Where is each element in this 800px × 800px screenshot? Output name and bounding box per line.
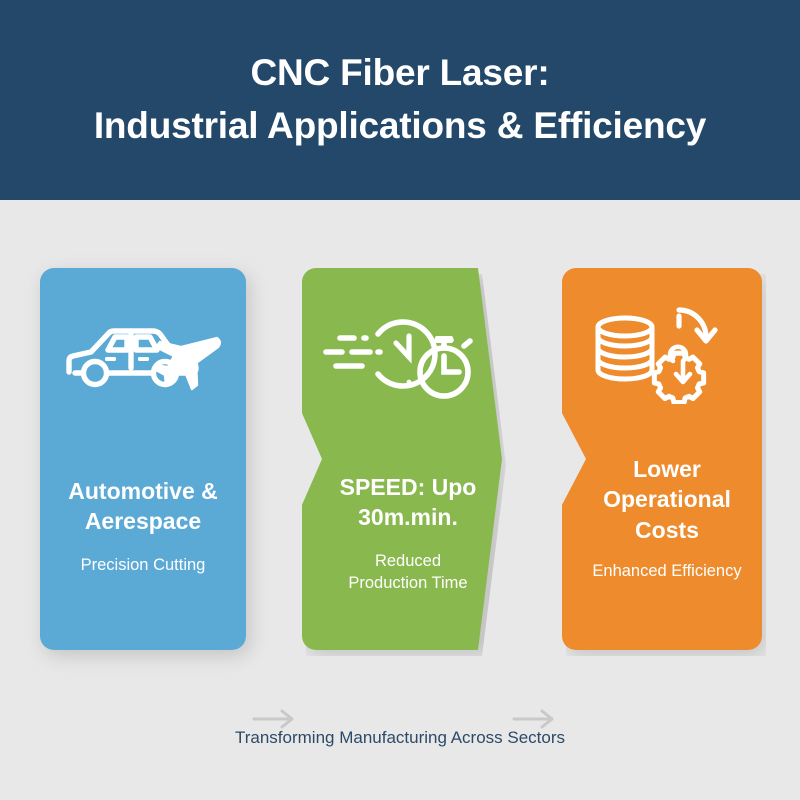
arrow-right-icon xyxy=(252,708,300,730)
flow-card-subtitle: Precision Cutting xyxy=(67,554,220,576)
flow-connector-2 xyxy=(512,708,560,730)
coins-gear-down-arrow-icon xyxy=(587,304,737,404)
car-airplane-icon xyxy=(61,316,226,404)
car-airplane-icon-wrap xyxy=(40,314,246,406)
flow-card-title: SPEED: Upo 30m.min. xyxy=(314,472,491,533)
flow-connector-1 xyxy=(252,708,300,730)
flow-card-title: Lower Operational Costs xyxy=(579,454,745,545)
page-title: CNC Fiber Laser: Industrial Applications… xyxy=(64,47,736,152)
clock-stopwatch-speed-icon xyxy=(318,308,486,404)
flow-card-speed[interactable]: SPEED: Upo 30m.min. Reduced Production T… xyxy=(302,268,502,650)
arrow-right-icon xyxy=(512,708,560,730)
header-banner: CNC Fiber Laser: Industrial Applications… xyxy=(0,0,800,200)
footer-caption: Transforming Manufacturing Across Sector… xyxy=(0,728,800,748)
flow-card-lower-operational-costs[interactable]: Lower Operational Costs Enhanced Efficie… xyxy=(562,268,762,650)
infographic-canvas: CNC Fiber Laser: Industrial Applications… xyxy=(0,0,800,800)
flow-card-subtitle: Enhanced Efficiency xyxy=(568,560,755,582)
flow-card-title: Automotive & Aerespace xyxy=(54,476,232,537)
process-flow: Automotive & Aerespace Precision Cutting xyxy=(0,268,800,650)
flow-card-automotive-aerospace[interactable]: Automotive & Aerespace Precision Cutting xyxy=(40,268,246,650)
coins-gear-down-arrow-icon-wrap xyxy=(562,308,762,400)
clock-stopwatch-speed-icon-wrap xyxy=(302,310,502,402)
flow-card-subtitle: Reduced Production Time xyxy=(322,550,481,594)
